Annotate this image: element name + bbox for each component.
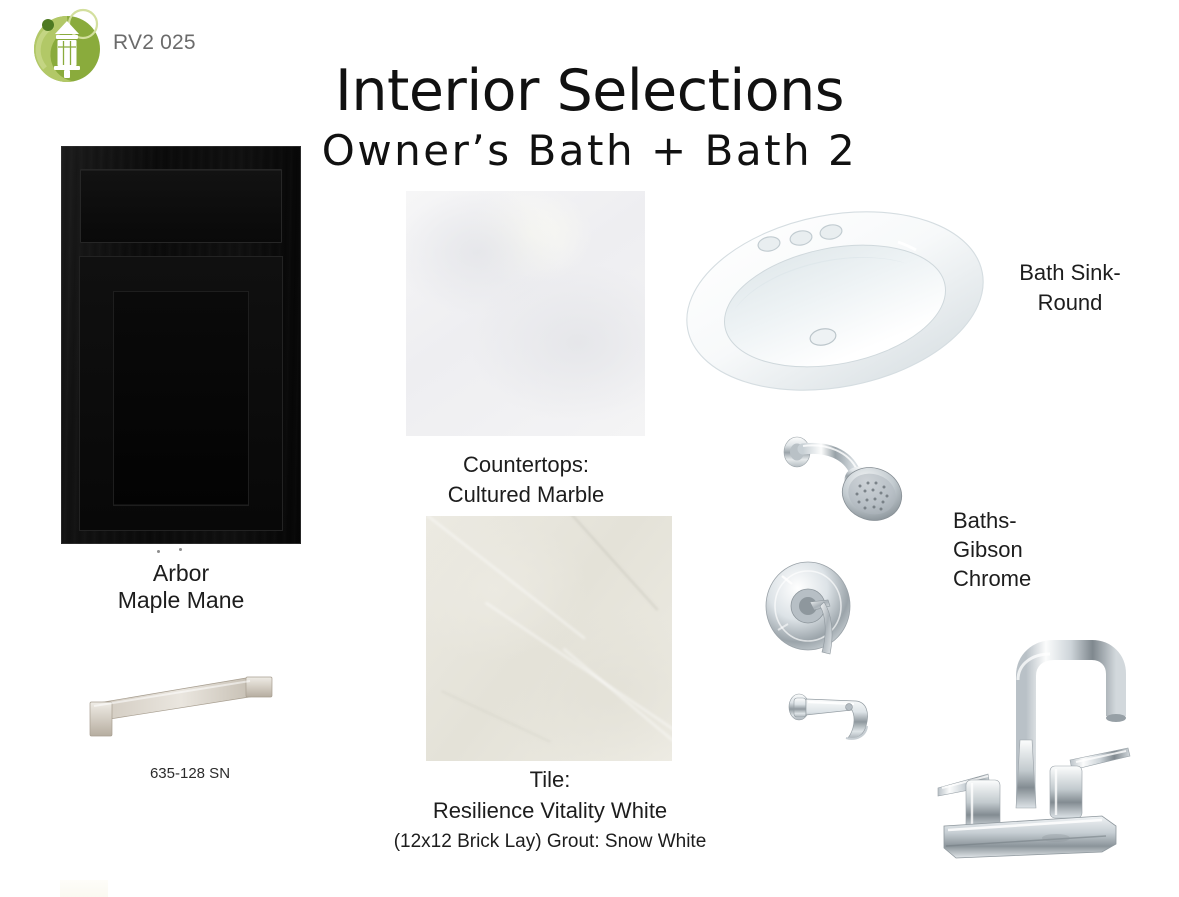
tile-caption-line-3: (12x12 Brick Lay) Grout: Snow White [330, 826, 770, 857]
cabinet-caption-line-2: Maple Mane [41, 587, 321, 614]
shower-head-icon [775, 424, 915, 532]
countertop-caption: Countertops: Cultured Marble [396, 450, 656, 510]
tile-caption-line-2: Resilience Vitality White [330, 795, 770, 826]
cabinet-door-panel [79, 256, 283, 531]
tile-caption-line-1: Tile: [330, 764, 770, 795]
cabinet-caption-line-1: Arbor [41, 560, 321, 587]
tile-caption: Tile: Resilience Vitality White (12x12 B… [330, 764, 770, 857]
cabinet-door-frame [61, 146, 301, 544]
project-code: RV2 025 [113, 31, 196, 55]
hardware-label: 635-128 SN [60, 765, 320, 782]
cabinet-pull-icon [74, 672, 314, 750]
sink-caption-line-1: Bath Sink- [990, 258, 1150, 288]
sample-pin-dots [61, 548, 301, 558]
tile-swatch [426, 516, 672, 761]
lavatory-faucet-icon [930, 620, 1150, 870]
bath-caption-line-1: Baths- [953, 506, 1143, 535]
shower-valve-trim-icon [758, 558, 878, 668]
sink-caption-line-2: Round [990, 288, 1150, 318]
cabinet-drawer-panel [80, 169, 282, 243]
cabinet-door-sample [61, 146, 301, 544]
cabinet-recessed-panel [113, 291, 249, 506]
bath-fixtures-caption: Baths- Gibson Chrome [953, 506, 1143, 593]
tub-spout-icon [786, 690, 886, 752]
countertop-caption-line-2: Cultured Marble [396, 480, 656, 510]
countertop-caption-line-1: Countertops: [396, 450, 656, 480]
bath-caption-line-2: Gibson [953, 535, 1143, 564]
countertop-swatch [406, 191, 645, 436]
cabinet-caption: Arbor Maple Mane [41, 560, 321, 614]
bath-caption-line-3: Chrome [953, 564, 1143, 593]
partial-swatch-edge [60, 880, 108, 897]
bath-sink-icon [683, 205, 988, 395]
sink-caption: Bath Sink- Round [990, 258, 1150, 318]
page-title: Interior Selections [0, 58, 1179, 124]
